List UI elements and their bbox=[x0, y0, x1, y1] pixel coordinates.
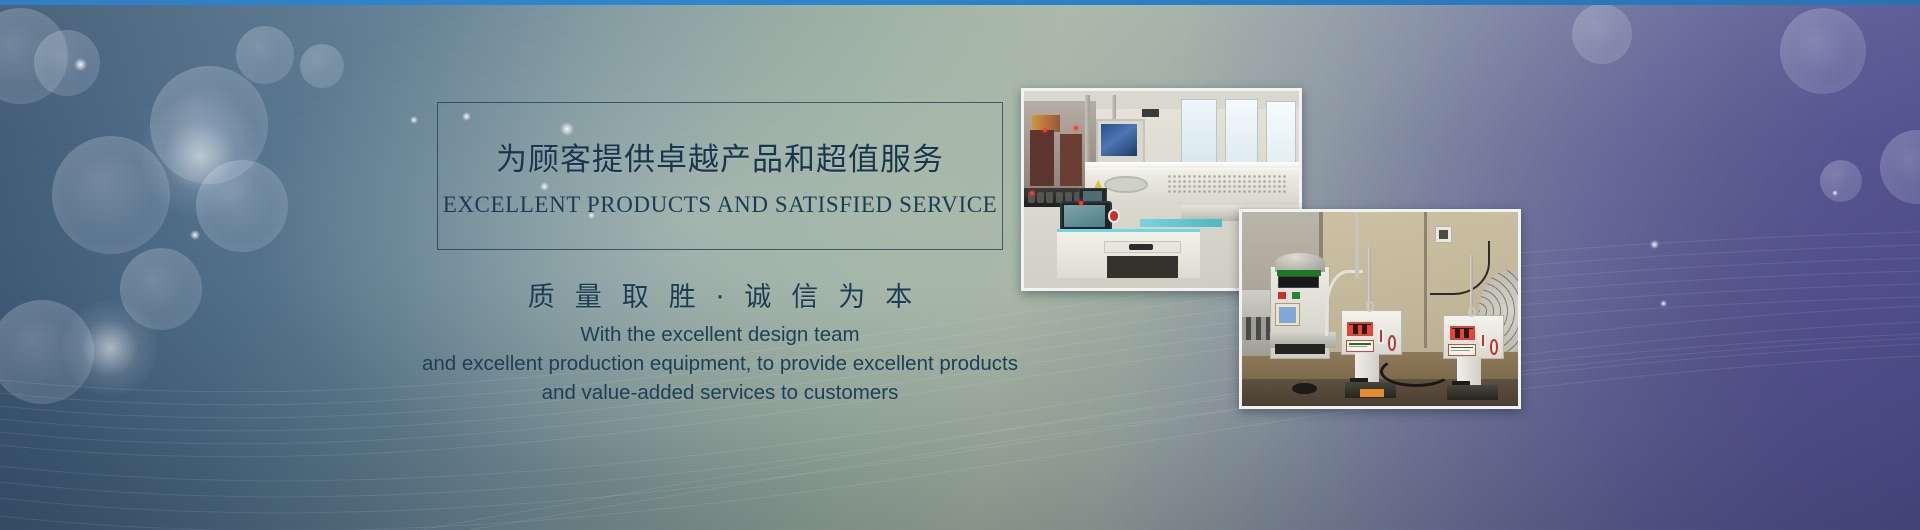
promo-banner: 为顾客提供卓越产品和超值服务 EXCELLENT PRODUCTS AND SA… bbox=[0, 0, 1920, 530]
description-line-1: With the excellent design team bbox=[330, 320, 1110, 349]
headline-english-subtitle: EXCELLENT PRODUCTS AND SATISFIED SERVICE bbox=[437, 192, 1003, 218]
banner-content: 为顾客提供卓越产品和超值服务 EXCELLENT PRODUCTS AND SA… bbox=[0, 0, 1920, 530]
slogan-chinese: 质量取胜·诚信为本 bbox=[400, 275, 1040, 314]
headline-chinese: 为顾客提供卓越产品和超值服务 bbox=[437, 134, 1003, 179]
press-machines-photo bbox=[1239, 209, 1521, 409]
description-line-2: and excellent production equipment, to p… bbox=[330, 349, 1110, 378]
description-paragraph: With the excellent design team and excel… bbox=[330, 320, 1110, 407]
photo-content bbox=[1242, 212, 1518, 406]
description-line-3: and value-added services to customers bbox=[330, 378, 1110, 407]
top-accent-rule bbox=[0, 0, 1920, 5]
